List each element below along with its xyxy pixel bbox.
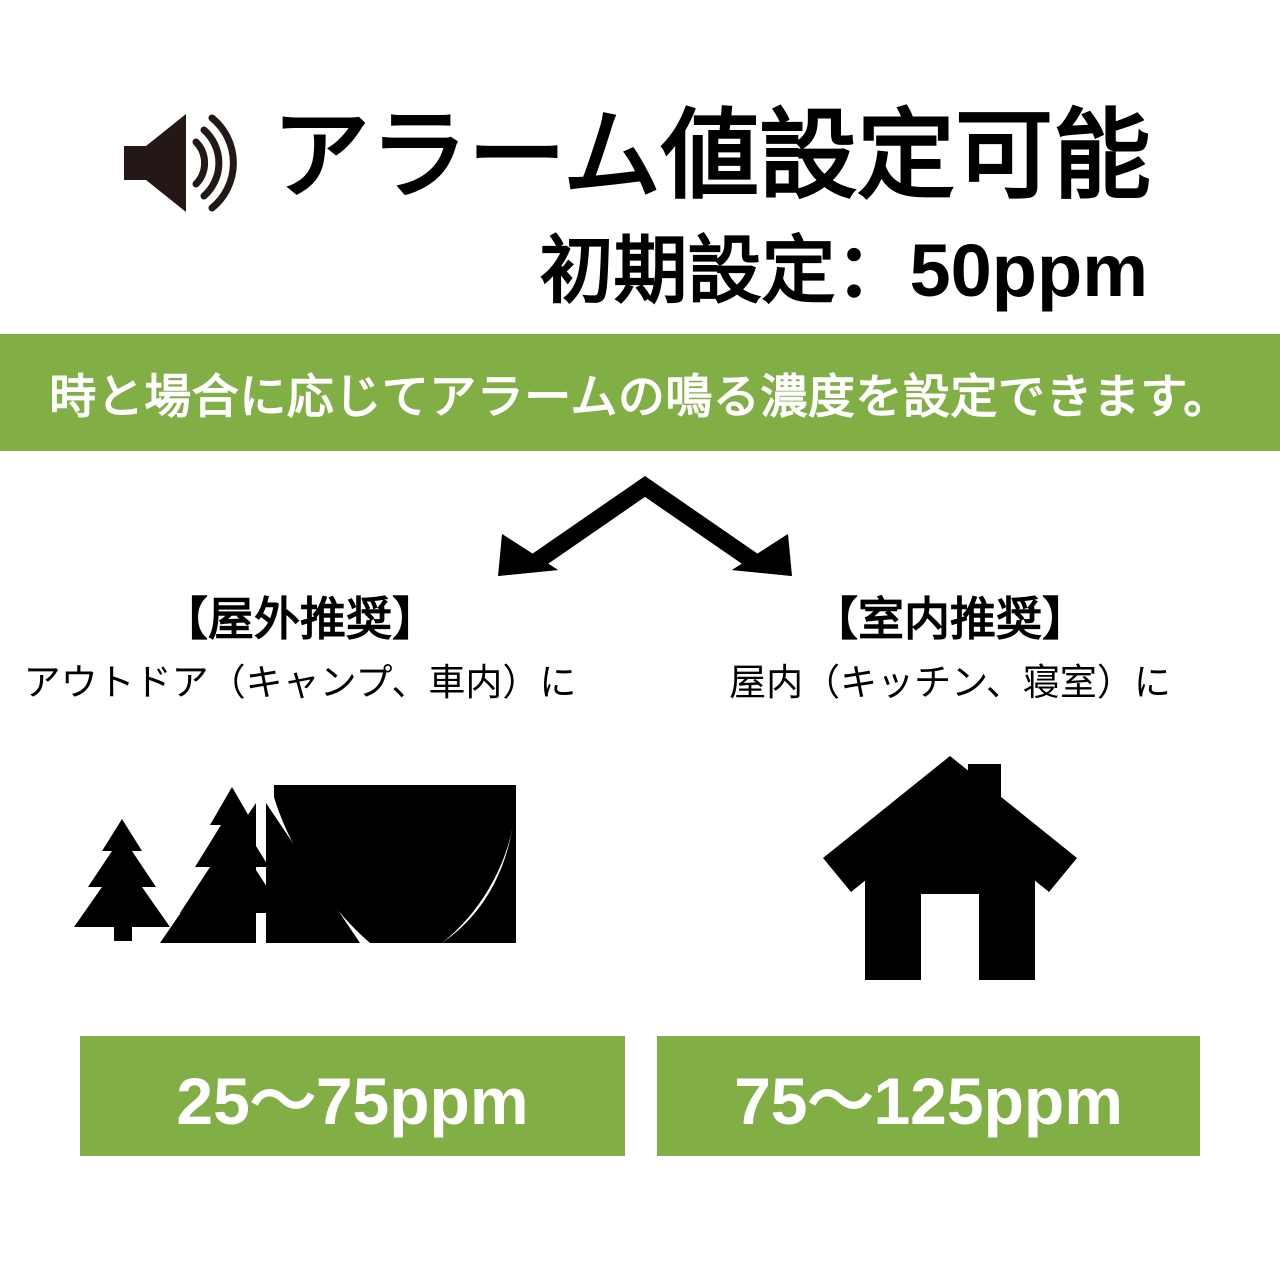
outdoor-heading: 【屋外推奨】 xyxy=(20,590,580,648)
outdoor-range-badge: 25〜75ppm xyxy=(80,1036,625,1156)
description-banner-text: 時と場合に応じてアラームの鳴る濃度を設定できます。 xyxy=(49,358,1230,427)
default-setting-label: 初期設定：50ppm xyxy=(0,228,1148,314)
double-headed-split-arrow-icon xyxy=(480,466,810,581)
speaker-sound-icon xyxy=(112,108,262,218)
description-banner: 時と場合に応じてアラームの鳴る濃度を設定できます。 xyxy=(0,334,1280,451)
indoor-range-text: 75〜125ppm xyxy=(734,1048,1123,1144)
indoor-column: 【室内推奨】 屋内（キッチン、寝室）に xyxy=(670,590,1230,1020)
indoor-range-badge: 75〜125ppm xyxy=(657,1036,1200,1156)
house-icon xyxy=(670,750,1230,980)
indoor-heading: 【室内推奨】 xyxy=(670,590,1230,648)
header-block: アラーム値設定可能 初期設定：50ppm xyxy=(0,0,1280,334)
tent-with-trees-icon xyxy=(20,750,580,980)
page-title: アラーム値設定可能 xyxy=(272,96,1132,214)
outdoor-column: 【屋外推奨】 アウトドア（キャンプ、車内）に xyxy=(20,590,580,1020)
indoor-caption: 屋内（キッチン、寝室）に xyxy=(670,658,1230,708)
outdoor-caption: アウトドア（キャンプ、車内）に xyxy=(20,658,580,708)
outdoor-range-text: 25〜75ppm xyxy=(176,1048,528,1144)
